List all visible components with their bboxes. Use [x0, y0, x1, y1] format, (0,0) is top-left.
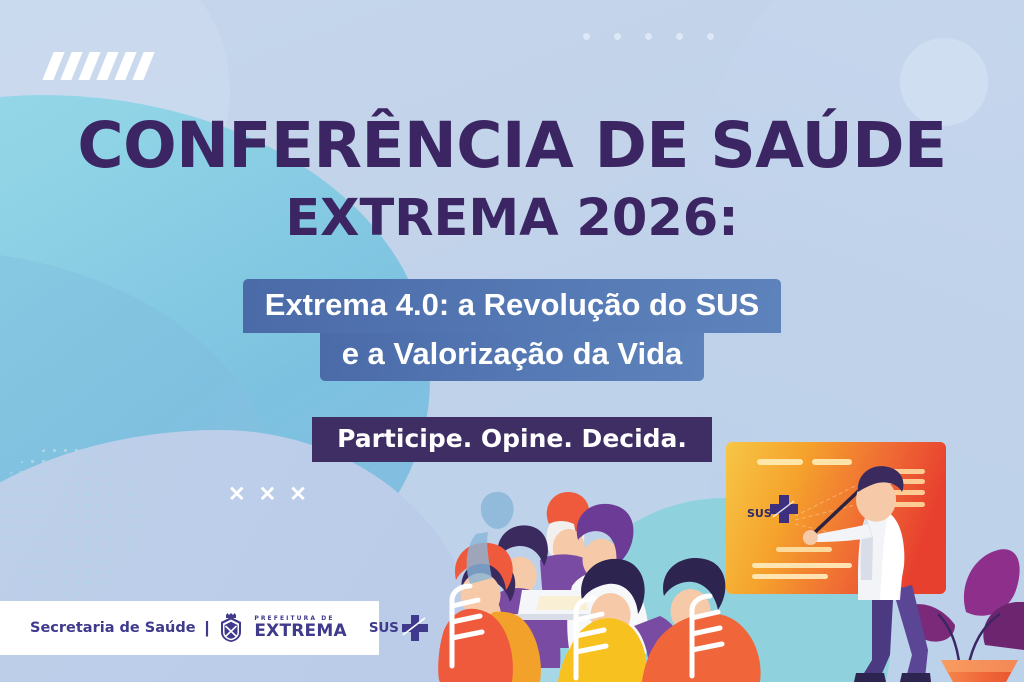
- prefeitura-coat-of-arms-icon: [218, 613, 244, 643]
- audience-group: [438, 492, 760, 682]
- sus-wordmark: SUS: [369, 620, 399, 636]
- sus-cross-icon: [400, 613, 430, 643]
- headline-line-2: EXTREMA 2026:: [0, 193, 1024, 244]
- prefeitura-wordmark: PREFEITURA DE EXTREMA: [254, 616, 347, 640]
- footer-secretaria-label: Secretaria de Saúde: [30, 620, 196, 636]
- poster-headline: CONFERÊNCIA DE SAÚDE EXTREMA 2026:: [0, 114, 1024, 244]
- presentation-board: SUS: [726, 442, 946, 594]
- poster-footer-bar: Secretaria de Saúde | PREFEITURA DE EXTR…: [0, 601, 379, 655]
- footer-separator: |: [205, 618, 210, 638]
- subtitle-line-2: e a Valorização da Vida: [320, 333, 705, 382]
- audience-back-silhouette: [481, 492, 514, 529]
- poster-tagline-wrap: Participe. Opine. Decida.: [0, 417, 1024, 462]
- poster-tagline: Participe. Opine. Decida.: [312, 417, 712, 462]
- conference-poster: ✕ ✕ ✕: [0, 0, 1024, 682]
- sus-logo: SUS: [369, 613, 430, 643]
- prefeitura-big-label: EXTREMA: [254, 623, 347, 640]
- subtitle-line-1: Extrema 4.0: a Revolução do SUS: [243, 279, 781, 333]
- poster-subtitle-banner: Extrema 4.0: a Revolução do SUS e a Valo…: [0, 279, 1024, 381]
- board-sus-text: SUS: [747, 507, 772, 520]
- headline-line-1: CONFERÊNCIA DE SAÚDE: [0, 114, 1024, 177]
